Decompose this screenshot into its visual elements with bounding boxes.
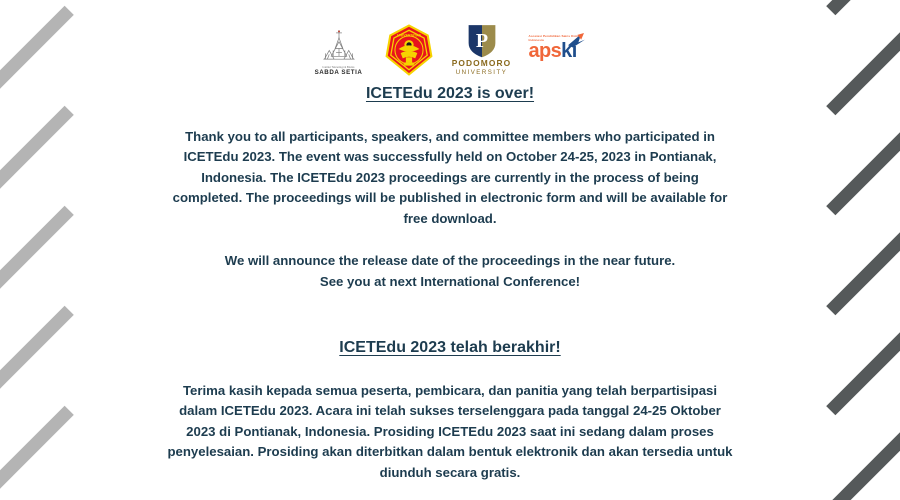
paragraph-english-2-line-1: We will announce the release date of the… xyxy=(225,253,675,268)
announcement-page: Institut Teknologi & Bisnis SABDA SETIA … xyxy=(0,0,900,500)
podomoro-shield-icon: P xyxy=(466,23,498,59)
heading-indonesian: ICETEdu 2023 telah berakhir! xyxy=(0,338,900,359)
cathedral-icon xyxy=(314,29,364,67)
logo-podomoro-subtitle: UNIVERSITY xyxy=(456,69,508,76)
paragraph-indonesian-1: Terima kasih kepada semua peserta, pembi… xyxy=(167,381,733,483)
logo-podomoro-university: P PODOMORO UNIVERSITY xyxy=(453,20,511,76)
logo-apski: Asosiasi Pendidikan Sains Kimia Indonesi… xyxy=(528,20,588,76)
logo-sabda-setia: Institut Teknologi & Bisnis SABDA SETIA xyxy=(313,20,365,76)
stripe xyxy=(0,0,74,15)
paragraph-english-1: Thank you to all participants, speakers,… xyxy=(167,127,733,229)
svg-text:UNIVERSITAS: UNIVERSITAS xyxy=(396,33,421,37)
logo-apski-aps: aps xyxy=(529,40,562,62)
paragraph-english-2-line-2: See you at next International Conference… xyxy=(320,274,580,289)
logo-podomoro-name: PODOMORO xyxy=(452,59,512,69)
logo-row: Institut Teknologi & Bisnis SABDA SETIA … xyxy=(0,18,900,76)
paragraph-english-2: We will announce the release date of the… xyxy=(190,251,710,292)
heading-english: ICETEdu 2023 is over! xyxy=(0,84,900,105)
university-seal-icon: UNIVERSITAS xyxy=(383,24,435,76)
svg-text:P: P xyxy=(475,30,487,52)
logo-university-seal: UNIVERSITAS xyxy=(382,20,436,76)
logo-apski-wordmark: apski xyxy=(528,42,588,61)
stripe xyxy=(826,0,900,15)
logo-sabda-name: SABDA SETIA xyxy=(315,70,363,76)
announcement-content: ICETEdu 2023 is over! Thank you to all p… xyxy=(0,84,900,500)
apski-swoosh-icon xyxy=(567,33,586,48)
